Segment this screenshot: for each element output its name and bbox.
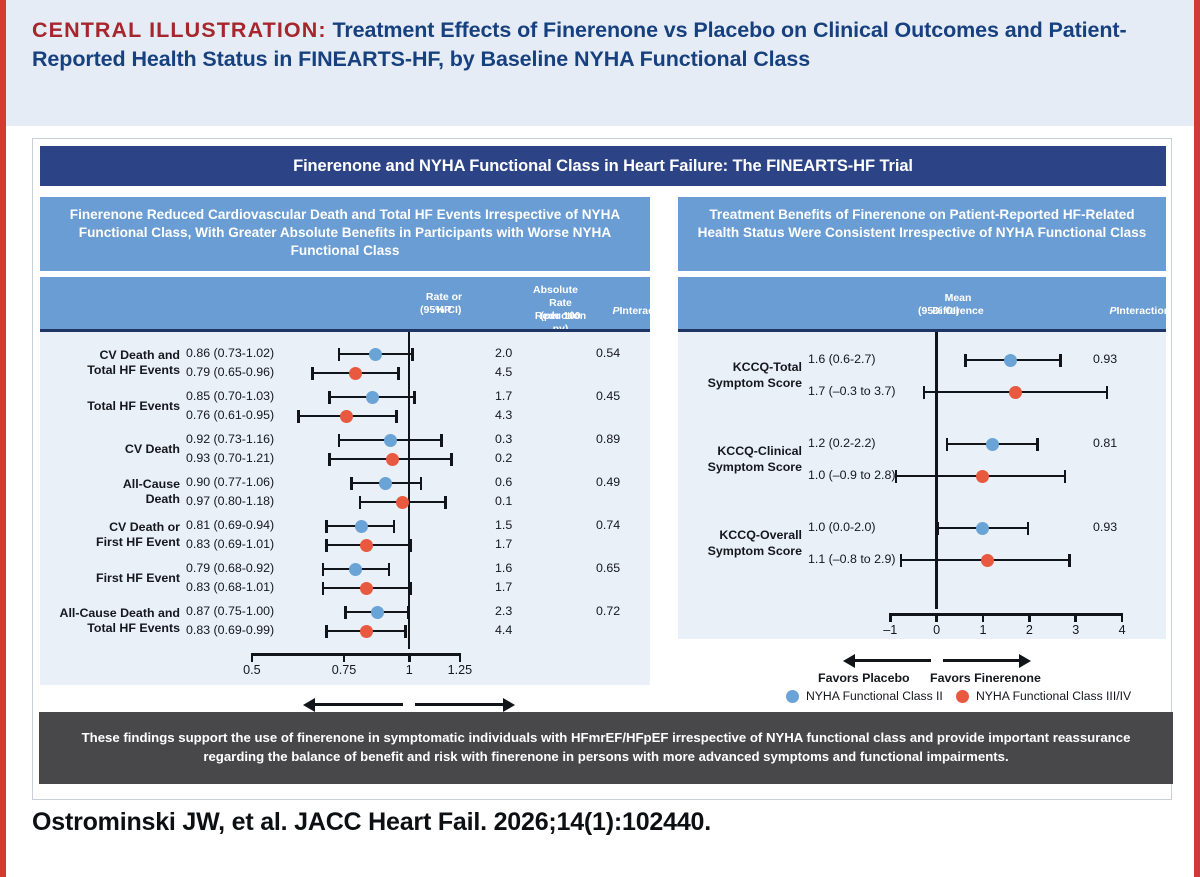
axis-line <box>252 653 460 656</box>
outcome-label: KCCQ-TotalSymptom Score <box>678 360 802 391</box>
right-column-headers: Mean Difference (95% CI) PInteraction <box>678 277 1166 329</box>
confidence-interval-cap <box>297 410 300 423</box>
point-estimate-marker <box>986 438 999 451</box>
absolute-rate-reduction-value: 1.5 <box>495 518 512 534</box>
estimate-text: 0.79 (0.65-0.96) <box>186 365 274 381</box>
absolute-rate-reduction-value: 0.2 <box>495 451 512 467</box>
confidence-interval-cap <box>397 367 400 380</box>
axis-tick-label: 4 <box>1097 623 1147 637</box>
left-col-pinteraction-header: PInteraction <box>585 305 647 318</box>
axis-tick-label: 1 <box>384 663 434 677</box>
central-illustration-label: CENTRAL ILLUSTRATION: <box>32 18 327 42</box>
axis-tick <box>459 653 462 662</box>
absolute-rate-reduction-value: 2.3 <box>495 604 512 620</box>
absolute-rate-reduction-value: 1.7 <box>495 580 512 596</box>
favors-right-arrow <box>943 659 1019 662</box>
confidence-interval-cap <box>338 434 341 447</box>
p-interaction-value: 0.74 <box>596 518 620 534</box>
confidence-interval-cap <box>409 582 412 595</box>
left-forest-plot: 0.86 (0.73-1.02)2.00.79 (0.65-0.96)4.5CV… <box>40 329 650 649</box>
p-interaction-value: 0.45 <box>596 389 620 405</box>
confidence-interval-cap <box>1106 386 1109 399</box>
reference-line <box>408 332 410 652</box>
confidence-interval-cap <box>1027 522 1030 535</box>
confidence-interval-cap <box>344 606 347 619</box>
confidence-interval-cap <box>964 354 967 367</box>
axis-tick-label: 1.25 <box>435 663 485 677</box>
axis-line <box>890 613 1122 616</box>
point-estimate-marker <box>379 477 392 490</box>
p-interaction-value: 0.93 <box>1093 352 1117 368</box>
confidence-interval-cap <box>1068 554 1071 567</box>
central-illustration-figure: CENTRAL ILLUSTRATION: Treatment Effects … <box>0 0 1200 877</box>
favors-left-arrowhead <box>303 698 315 712</box>
confidence-interval-cap <box>388 563 391 576</box>
right-col-estimate-header: Mean Difference (95% CI) <box>838 292 998 305</box>
p-interaction-value: 0.93 <box>1093 520 1117 536</box>
legend-item: NYHA Functional Class II <box>786 689 943 703</box>
axis-tick <box>1028 613 1031 622</box>
left-panel: Finerenone Reduced Cardiovascular Death … <box>40 197 650 763</box>
estimate-text: 1.7 (–0.3 to 3.7) <box>808 384 895 400</box>
axis-tick-label: –1 <box>865 623 915 637</box>
left-panel-heading: Finerenone Reduced Cardiovascular Death … <box>40 197 650 271</box>
absolute-rate-reduction-value: 0.6 <box>495 475 512 491</box>
favors-left-label: Favors Placebo <box>818 671 910 685</box>
right-col-pinteraction-header: PInteraction <box>1078 305 1148 318</box>
confidence-interval-cap <box>325 625 328 638</box>
confidence-interval-cap <box>900 554 903 567</box>
legend-swatch-class-2 <box>786 690 799 703</box>
absolute-rate-reduction-value: 1.7 <box>495 389 512 405</box>
confidence-interval-cap <box>328 453 331 466</box>
point-estimate-marker <box>349 367 362 380</box>
confidence-interval-cap <box>325 520 328 533</box>
point-estimate-marker <box>349 563 362 576</box>
absolute-rate-reduction-value: 1.6 <box>495 561 512 577</box>
confidence-interval-cap <box>322 563 325 576</box>
left-col-estimate-header: Rate or HR (95% CI) <box>372 291 468 304</box>
axis-tick <box>408 653 411 662</box>
p-interaction-value: 0.89 <box>596 432 620 448</box>
left-column-headers: Rate or HR (95% CI) Absolute Rate Reduct… <box>40 277 650 329</box>
estimate-text: 0.86 (0.73-1.02) <box>186 346 274 362</box>
legend-label: NYHA Functional Class II <box>806 689 943 703</box>
absolute-rate-reduction-value: 0.3 <box>495 432 512 448</box>
confidence-interval-cap <box>411 348 414 361</box>
confidence-interval-cap <box>923 386 926 399</box>
outcome-label: KCCQ-ClinicalSymptom Score <box>678 444 802 475</box>
confidence-interval-cap <box>1059 354 1062 367</box>
estimate-text: 0.83 (0.68-1.01) <box>186 580 274 596</box>
point-estimate-marker <box>386 453 399 466</box>
figure-title-band: CENTRAL ILLUSTRATION: Treatment Effects … <box>6 0 1194 126</box>
right-forest-plot: 1.6 (0.6-2.7)1.7 (–0.3 to 3.7)KCCQ-Total… <box>678 329 1166 609</box>
p-interaction-value: 0.72 <box>596 604 620 620</box>
confidence-interval-cap <box>359 496 362 509</box>
confidence-interval-cap <box>450 453 453 466</box>
confidence-interval-cap <box>444 496 447 509</box>
confidence-interval-cap <box>1064 470 1067 483</box>
confidence-interval-cap <box>322 582 325 595</box>
point-estimate-marker <box>360 539 373 552</box>
legend-item: NYHA Functional Class III/IV <box>956 689 1131 703</box>
favors-left-arrow <box>855 659 931 662</box>
legend-label: NYHA Functional Class III/IV <box>976 689 1131 703</box>
card-title: Finerenone and NYHA Functional Class in … <box>40 146 1166 186</box>
estimate-text: 0.97 (0.80-1.18) <box>186 494 274 510</box>
confidence-interval-cap <box>395 410 398 423</box>
confidence-interval-cap <box>350 477 353 490</box>
conclusion-box: These findings support the use of finere… <box>39 712 1173 784</box>
confidence-interval-cap <box>393 520 396 533</box>
outcome-label: CV Death <box>40 442 180 458</box>
outcome-label: All-CauseDeath <box>40 477 180 508</box>
estimate-text: 0.76 (0.61-0.95) <box>186 408 274 424</box>
outcome-label: CV Death orFirst HF Event <box>40 520 180 551</box>
point-estimate-marker <box>1009 386 1022 399</box>
point-estimate-marker <box>366 391 379 404</box>
estimate-text: 0.93 (0.70-1.21) <box>186 451 274 467</box>
favors-right-label: Favors Finerenone <box>930 671 1041 685</box>
estimate-text: 0.83 (0.69-0.99) <box>186 623 274 639</box>
outcome-label: First HF Event <box>40 571 180 587</box>
right-forest-axis: –101234 <box>678 609 1166 639</box>
confidence-interval-cap <box>420 477 423 490</box>
axis-tick-label: 0.5 <box>227 663 277 677</box>
absolute-rate-reduction-value: 1.7 <box>495 537 512 553</box>
left-forest-axis: 0.50.7511.25 <box>40 649 650 685</box>
axis-tick <box>251 653 254 662</box>
estimate-text: 1.6 (0.6-2.7) <box>808 352 876 368</box>
absolute-rate-reduction-value: 4.4 <box>495 623 512 639</box>
point-estimate-marker <box>371 606 384 619</box>
estimate-text: 0.83 (0.69-1.01) <box>186 537 274 553</box>
p-interaction-value: 0.65 <box>596 561 620 577</box>
estimate-text: 0.79 (0.68-0.92) <box>186 561 274 577</box>
confidence-interval-cap <box>1036 438 1039 451</box>
axis-tick-label: 1 <box>958 623 1008 637</box>
axis-tick <box>982 613 985 622</box>
absolute-rate-reduction-value: 0.1 <box>495 494 512 510</box>
axis-tick <box>889 613 892 622</box>
figure-card: Finerenone and NYHA Functional Class in … <box>32 138 1172 800</box>
favors-right-arrow <box>415 703 503 706</box>
favors-right-arrowhead <box>503 698 515 712</box>
estimate-text: 0.92 (0.73-1.16) <box>186 432 274 448</box>
reference-line <box>935 332 937 612</box>
p-interaction-value: 0.54 <box>596 346 620 362</box>
point-estimate-marker <box>360 625 373 638</box>
conclusion-text: These findings support the use of finere… <box>65 729 1147 766</box>
favors-left-arrowhead <box>843 654 855 668</box>
right-axis-footer: Favors PlaceboFavors FinerenoneNYHA Func… <box>678 639 1166 711</box>
right-panel-heading: Treatment Benefits of Finerenone on Pati… <box>678 197 1166 271</box>
axis-tick <box>1121 613 1124 622</box>
axis-tick-label: 0.75 <box>319 663 369 677</box>
outcome-label: All-Cause Death andTotal HF Events <box>40 606 180 637</box>
confidence-interval-cap <box>937 522 940 535</box>
estimate-text: 1.0 (–0.9 to 2.8) <box>808 468 895 484</box>
left-col-arr-header: Absolute Rate Reduction (per 100 py) <box>478 284 588 310</box>
point-estimate-marker <box>981 554 994 567</box>
confidence-interval-cap <box>407 606 410 619</box>
axis-tick-label: 0 <box>912 623 962 637</box>
p-interaction-value: 0.81 <box>1093 436 1117 452</box>
confidence-interval-cap <box>895 470 898 483</box>
absolute-rate-reduction-value: 4.3 <box>495 408 512 424</box>
confidence-interval-cap <box>413 391 416 404</box>
outcome-label: Total HF Events <box>40 399 180 415</box>
favors-left-arrow <box>315 703 403 706</box>
point-estimate-marker <box>396 496 409 509</box>
legend-swatch-class-3-4 <box>956 690 969 703</box>
axis-tick <box>1074 613 1077 622</box>
axis-tick-label: 2 <box>1004 623 1054 637</box>
absolute-rate-reduction-value: 4.5 <box>495 365 512 381</box>
point-estimate-marker <box>1004 354 1017 367</box>
p-interaction-value: 0.49 <box>596 475 620 491</box>
confidence-interval-cap <box>311 367 314 380</box>
estimate-text: 0.90 (0.77-1.06) <box>186 475 274 491</box>
estimate-text: 0.85 (0.70-1.03) <box>186 389 274 405</box>
point-estimate-marker <box>340 410 353 423</box>
axis-tick-label: 3 <box>1051 623 1101 637</box>
favors-right-arrowhead <box>1019 654 1031 668</box>
point-estimate-marker <box>976 522 989 535</box>
outcome-label: KCCQ-OverallSymptom Score <box>678 528 802 559</box>
estimate-text: 1.1 (–0.8 to 2.9) <box>808 552 895 568</box>
point-estimate-marker <box>384 434 397 447</box>
point-estimate-marker <box>360 582 373 595</box>
confidence-interval-cap <box>325 539 328 552</box>
estimate-text: 0.87 (0.75-1.00) <box>186 604 274 620</box>
right-panel: Treatment Benefits of Finerenone on Pati… <box>678 197 1166 711</box>
point-estimate-marker <box>976 470 989 483</box>
estimate-text: 1.2 (0.2-2.2) <box>808 436 876 452</box>
confidence-interval-cap <box>946 438 949 451</box>
confidence-interval-cap <box>404 625 407 638</box>
confidence-interval-cap <box>338 348 341 361</box>
estimate-text: 0.81 (0.69-0.94) <box>186 518 274 534</box>
outcome-label: CV Death andTotal HF Events <box>40 348 180 379</box>
estimate-text: 1.0 (0.0-2.0) <box>808 520 876 536</box>
page-title: CENTRAL ILLUSTRATION: Treatment Effects … <box>32 16 1168 73</box>
axis-tick <box>343 653 346 662</box>
citation: Ostrominski JW, et al. JACC Heart Fail. … <box>32 808 711 837</box>
confidence-interval-cap <box>440 434 443 447</box>
confidence-interval-cap <box>328 391 331 404</box>
axis-tick <box>935 613 938 622</box>
point-estimate-marker <box>369 348 382 361</box>
absolute-rate-reduction-value: 2.0 <box>495 346 512 362</box>
point-estimate-marker <box>355 520 368 533</box>
confidence-interval-cap <box>409 539 412 552</box>
